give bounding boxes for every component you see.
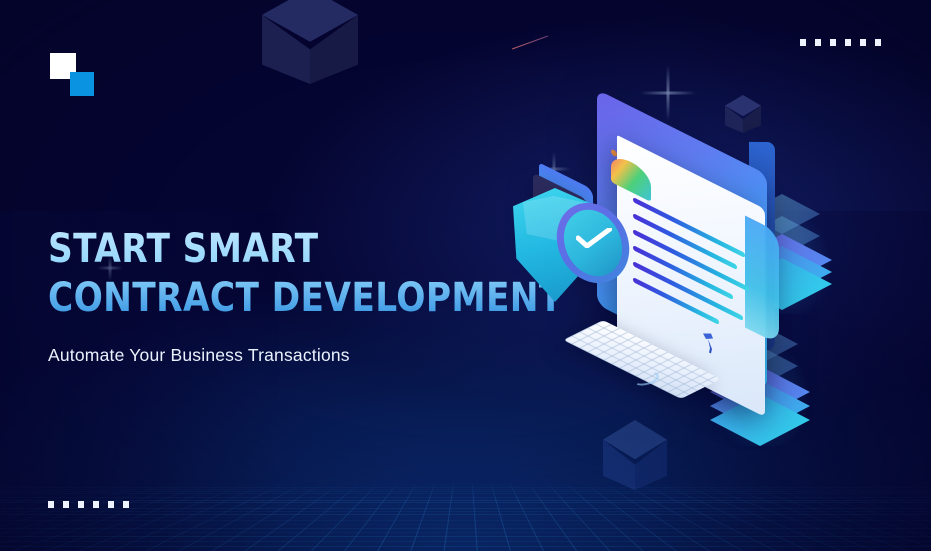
dot-marker	[78, 501, 84, 508]
document-curl-bottom	[745, 216, 779, 345]
headline-line-1: START SMART	[48, 226, 318, 272]
verified-check-badge	[558, 202, 628, 284]
dot-marker	[93, 501, 99, 508]
dot-marker	[63, 501, 69, 508]
smart-contract-isometric-illustration	[455, 0, 931, 551]
isometric-cube-large-icon	[262, 0, 358, 84]
hero-banner: START SMARTCONTRACT DEVELOPMENT Automate…	[0, 0, 931, 551]
folder-connector-line	[512, 36, 548, 50]
logo-square-blue-icon	[70, 72, 94, 96]
check-icon	[576, 228, 612, 248]
dot-marker	[48, 501, 54, 508]
brand-logo[interactable]	[50, 53, 94, 96]
keyboard[interactable]	[603, 320, 721, 360]
sparkle-icon	[640, 65, 696, 121]
dot-marker	[123, 501, 129, 508]
isometric-cube-glass-icon	[603, 420, 667, 490]
sparkle-icon	[97, 255, 123, 281]
keyboard-keys	[563, 320, 721, 399]
dot-row-bottom-left	[48, 501, 129, 508]
isometric-cube-small-icon	[725, 95, 761, 133]
dot-marker	[108, 501, 114, 508]
